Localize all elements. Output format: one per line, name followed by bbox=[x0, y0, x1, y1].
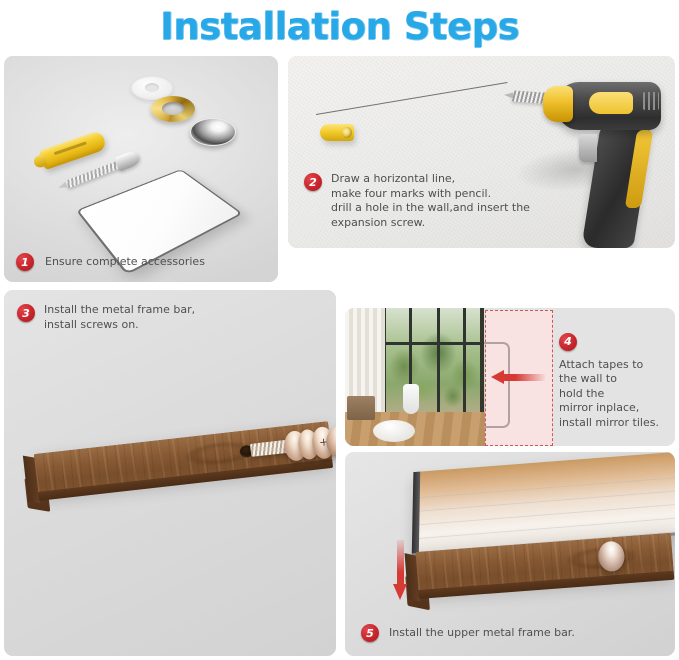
step-5-badge: 5 bbox=[361, 624, 379, 642]
step-4-badge: 4 bbox=[559, 333, 577, 351]
room-ottoman bbox=[373, 420, 415, 442]
step-1-panel: 1 Ensure complete accessories bbox=[4, 56, 278, 282]
step-3-badge: 3 bbox=[17, 304, 35, 322]
arrow-shaft bbox=[397, 540, 404, 586]
steps-board: 1 Ensure complete accessories 2 Draw a h… bbox=[0, 52, 679, 660]
wooden-frame-bar-icon bbox=[34, 421, 333, 494]
step-5-caption: 5 Install the upper metal frame bar. bbox=[361, 624, 575, 642]
step-2-caption: 2 Draw a horizontal line, make four mark… bbox=[304, 172, 530, 230]
step-5-panel: 5 Install the upper metal frame bar. bbox=[345, 452, 675, 656]
step-3-text: Install the metal frame bar, install scr… bbox=[44, 303, 195, 332]
gold-threaded-ring-icon bbox=[151, 96, 195, 122]
step-3-panel: 3 Install the metal frame bar, install s… bbox=[4, 290, 336, 656]
room-vase bbox=[403, 384, 419, 414]
window-mullion bbox=[385, 342, 482, 345]
step-1-badge: 1 bbox=[16, 253, 34, 271]
step-1-caption: 1 Ensure complete accessories bbox=[16, 253, 205, 271]
mirror-left-edge bbox=[412, 472, 420, 554]
mirror-outline bbox=[484, 342, 510, 428]
screw-head bbox=[114, 149, 142, 172]
arrow-head bbox=[393, 584, 407, 600]
yellow-wall-anchor-icon bbox=[320, 124, 354, 141]
step-2-panel: 2 Draw a horizontal line, make four mark… bbox=[288, 56, 675, 248]
room-foliage bbox=[385, 326, 482, 416]
step-2-badge: 2 bbox=[304, 173, 322, 191]
step-4-panel: 4 Attach tapes to the wall to hold the m… bbox=[345, 308, 675, 446]
chrome-dome-cap-icon bbox=[190, 118, 236, 146]
drill-trigger bbox=[579, 134, 597, 162]
down-arrow-icon bbox=[393, 540, 407, 600]
room-planter bbox=[347, 396, 375, 420]
step-4-text: Attach tapes to the wall to hold the mir… bbox=[559, 358, 669, 431]
page-title: Installation Steps bbox=[160, 5, 519, 48]
step-1-scene bbox=[4, 56, 278, 282]
step-1-text: Ensure complete accessories bbox=[45, 255, 205, 270]
step-3-scene bbox=[4, 290, 336, 656]
drill-chuck bbox=[543, 86, 573, 122]
drill-vents bbox=[643, 92, 659, 110]
window-mullion bbox=[463, 308, 466, 420]
step-5-text: Install the upper metal frame bar. bbox=[389, 626, 575, 641]
arrow-head bbox=[491, 370, 504, 384]
screw-shank bbox=[65, 160, 122, 188]
drill-body-accent bbox=[589, 92, 633, 114]
pencil-line-icon bbox=[316, 82, 508, 115]
step-4-caption: 4 Attach tapes to the wall to hold the m… bbox=[559, 330, 669, 430]
left-arrow-icon bbox=[491, 370, 545, 384]
cordless-drill-icon bbox=[543, 64, 675, 248]
arrow-shaft bbox=[503, 374, 545, 381]
step-2-text: Draw a horizontal line, make four marks … bbox=[331, 172, 530, 230]
step-3-caption: 3 Install the metal frame bar, install s… bbox=[17, 303, 195, 332]
window-mullion bbox=[437, 308, 440, 420]
page-header: Installation Steps bbox=[0, 0, 679, 52]
